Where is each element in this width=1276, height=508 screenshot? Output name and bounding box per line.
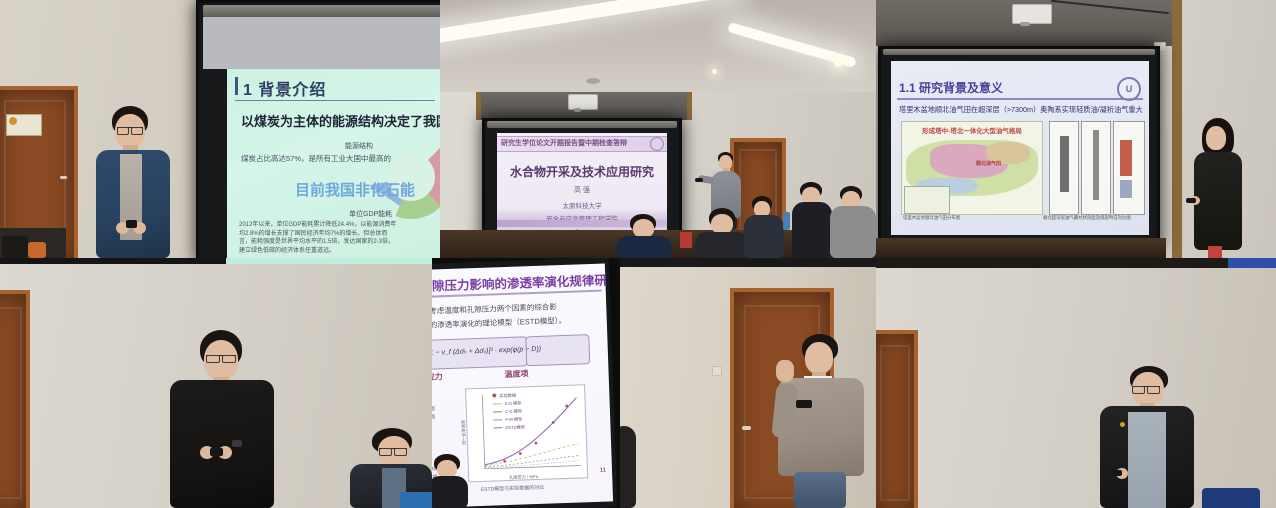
presenter-person <box>160 330 284 508</box>
ceiling-downlight-1 <box>834 58 843 67</box>
torso <box>620 426 636 508</box>
clicker-remote <box>1186 198 1196 203</box>
torso <box>830 206 876 258</box>
legend-marker-line <box>493 412 502 413</box>
equation-label-right: 温度项 <box>504 368 528 380</box>
map-figure: 形成塔中-塔北一体化大型油气格局 顺北油气田 <box>901 121 1043 215</box>
legend-marker-dot <box>492 393 496 397</box>
page-number: 11 <box>600 468 607 474</box>
glasses-icon <box>206 355 236 364</box>
chair <box>1202 488 1260 508</box>
audience-member <box>792 182 832 258</box>
audience-member <box>830 186 876 258</box>
panel-bottom-center-right[interactable] <box>620 258 876 508</box>
side-legend-item: 应力项 <box>432 415 435 422</box>
legend-item-2: C-G 模型 <box>493 408 522 415</box>
legend-item-3: P-M 模型 <box>493 416 522 423</box>
legend-item-1: S-D 模型 <box>493 401 522 408</box>
slide-title: 水合物开采及技术应用研究 <box>497 163 667 180</box>
audience-member <box>616 214 672 258</box>
head <box>711 214 733 234</box>
torso <box>744 215 784 258</box>
head <box>805 342 833 374</box>
slide-heading: 1 背景介绍 <box>243 76 326 100</box>
door <box>0 290 30 508</box>
clicker-remote <box>695 178 703 182</box>
figure-caption-left: 塔里木盆地顺北油气田分布图 <box>903 215 960 221</box>
door-sign <box>6 114 42 136</box>
slide-bullet: 塔里木盆地顺北油气田在超深层（>7300m）奥陶系实现轻质油/凝析油气重大突破 <box>899 105 1143 115</box>
slide-para-2: 过程的渗透率演化的理论模型（ESTD模型）。 <box>432 315 566 331</box>
inner-sweater <box>1128 412 1166 508</box>
projection-screen: 1.1 研究背景及意义 塔里木盆地顺北油气田在超深层（>7300m）奥陶系实现轻… <box>878 46 1160 248</box>
red-document <box>680 232 692 248</box>
slide-highlight: 以煤炭为主体的能源结构决定了我国实 <box>241 111 440 130</box>
presenter-person <box>86 106 182 258</box>
legend-label: P-M 模型 <box>505 416 522 422</box>
map-title: 形成塔中-塔北一体化大型油气格局 <box>902 125 1042 135</box>
legend-marker-line <box>493 420 502 421</box>
panel-bottom-center[interactable]: 孔隙压力影响的渗透率演化规律研究 究，考虑温度和孔隙压力两个因素的综合影 过程的… <box>432 258 620 508</box>
well-log-1 <box>1049 121 1079 215</box>
photo-collage: 1 背景介绍 以煤炭为主体的能源结构决定了我国实 能源结构 煤炭占比高达57%，… <box>0 0 1276 508</box>
torso <box>616 236 672 258</box>
torso-shirt <box>170 380 274 508</box>
legend-marker-line <box>493 428 502 429</box>
audience-member <box>695 208 749 258</box>
ceiling-downlight-2 <box>712 69 717 74</box>
clicker-remote <box>796 400 812 408</box>
jacket-badge <box>1120 422 1125 427</box>
log-stripe <box>1120 180 1132 198</box>
door-knob <box>60 176 67 179</box>
legend-label: S-D 模型 <box>505 401 522 407</box>
torso <box>695 232 749 258</box>
seated-attendee <box>348 428 432 508</box>
wristwatch <box>232 440 242 447</box>
legend-label: 实验数据 <box>499 393 516 399</box>
screen-valance <box>487 121 677 128</box>
orange-object <box>28 242 46 258</box>
clicker-remote <box>1110 470 1122 476</box>
slide-surface: 1 背景介绍 以煤炭为主体的能源结构决定了我国实 能源结构 煤炭占比高达57%，… <box>227 69 440 258</box>
screen-valance <box>203 5 440 17</box>
slide-title-rule <box>897 98 1143 100</box>
slide-line-1: 煤炭占比高达57%，是所有工业大国中最高的 <box>241 153 391 164</box>
well-log-2 <box>1081 121 1111 215</box>
chart-xlabel: 孔隙压力 / MPa <box>509 474 538 481</box>
slide-heading: 1.1 研究背景及意义 <box>899 79 1003 96</box>
panel-top-left[interactable]: 1 背景介绍 以煤炭为主体的能源结构决定了我国实 能源结构 煤炭占比高达57%，… <box>0 0 440 258</box>
clicker-remote <box>126 220 137 228</box>
torso <box>432 476 468 508</box>
figure-caption-right: 顺北超深层油气藏柱状剖面及储层特征对比图 <box>1043 215 1131 221</box>
log-stripe <box>1060 136 1069 192</box>
blue-booklet <box>400 492 432 508</box>
wall-switch[interactable] <box>712 366 722 376</box>
projector <box>1012 4 1052 24</box>
presenter-person <box>770 334 872 508</box>
presenter-person <box>1188 118 1248 258</box>
door <box>876 330 918 508</box>
glasses-icon <box>379 448 407 457</box>
slide-body: 2012年以来，单位GDP能耗累计降低24.4%，以能源消费年均2.8%的增长支… <box>239 221 399 256</box>
projection-screen: 1 背景介绍 以煤炭为主体的能源结构决定了我国实 能源结构 煤炭占比高达57%，… <box>196 0 440 258</box>
panel-top-right[interactable]: 1.1 研究背景及意义 塔里木盆地顺北油气田在超深层（>7300m）奥陶系实现轻… <box>876 0 1276 258</box>
wall-surface <box>876 258 1276 508</box>
glasses-icon <box>117 127 143 135</box>
hand-gesture <box>776 360 794 382</box>
projector <box>568 94 598 110</box>
side-legend-top-2: 应力项 <box>432 414 435 422</box>
door-knob <box>742 426 751 430</box>
chart-figure: 实验数据 S-D 模型 C-G 模型 P-M 模型 ESTD模型 孔隙压力 / … <box>465 384 588 482</box>
legend-item-0: 实验数据 <box>492 393 516 400</box>
slide-surface: 1.1 研究背景及意义 塔里木盆地顺北油气田在超深层（>7300m）奥陶系实现轻… <box>891 61 1149 235</box>
side-legend-top: 温度项 <box>432 406 435 414</box>
log-stripe <box>1093 130 1099 200</box>
well-log-3 <box>1113 121 1145 215</box>
slide-university: 太原科技大学 <box>497 200 667 210</box>
screen-valance <box>883 49 1155 55</box>
equation-label-left: 有效应力 <box>432 371 443 383</box>
wall-trim <box>1172 0 1182 258</box>
slide-big-text: 目前我国非化石能 <box>295 179 415 200</box>
red-document <box>1208 246 1222 258</box>
log-stripe <box>1120 140 1132 176</box>
upper-blue-edge <box>1228 258 1276 268</box>
slide-title-underline <box>235 100 435 101</box>
slide-callout-1: 能源结构 <box>345 141 373 151</box>
chart-ylabel: 归一化渗透率 <box>461 420 468 445</box>
panel-bottom-right[interactable] <box>876 258 1276 508</box>
seated-attendee <box>432 454 468 508</box>
seated-attendee <box>620 426 636 508</box>
slide-banner-text: 研究生学位论文开题报告暨中期检查答辩 <box>501 138 641 148</box>
audience-member <box>744 196 784 258</box>
torso-coat <box>1194 152 1242 250</box>
map-inset <box>904 186 950 214</box>
university-logo <box>650 137 664 151</box>
torso <box>792 202 832 258</box>
university-seal <box>1117 77 1141 101</box>
legend-label: C-G 模型 <box>505 408 522 414</box>
slide-glow-strip <box>226 258 432 264</box>
map-label: 顺北油气田 <box>976 160 1001 167</box>
slide-presenter: 高 强 <box>497 185 667 195</box>
chart-svg <box>466 385 587 481</box>
slide-para-1: 究，考虑温度和孔隙压力两个因素的综合影 <box>432 301 557 317</box>
legend-item-4: ESTD模型 <box>493 424 525 431</box>
bag-object <box>2 236 28 258</box>
ceiling-vent <box>586 78 600 84</box>
water-bottle <box>783 212 790 230</box>
legs-jeans <box>794 472 846 508</box>
glasses-icon <box>1132 386 1160 395</box>
side-legend-item: 温度项 <box>432 407 435 414</box>
slide-title-bar <box>235 77 238 95</box>
panel-bottom-left[interactable] <box>0 258 432 508</box>
slide-callout-2: 单位GDP能耗 <box>349 209 392 219</box>
panel-top-center[interactable]: 研究生学位论文开题报告暨中期检查答辩 水合物开采及技术应用研究 高 强 太原科技… <box>440 0 876 258</box>
clicker-remote <box>210 448 223 456</box>
head <box>1206 126 1226 150</box>
upper-dark-edge <box>620 258 876 267</box>
legend-marker-line <box>493 404 502 405</box>
upper-dark-edge <box>876 258 1276 268</box>
presenter-person <box>1094 366 1198 508</box>
legend-label: ESTD模型 <box>505 424 525 430</box>
podium <box>876 238 1166 258</box>
